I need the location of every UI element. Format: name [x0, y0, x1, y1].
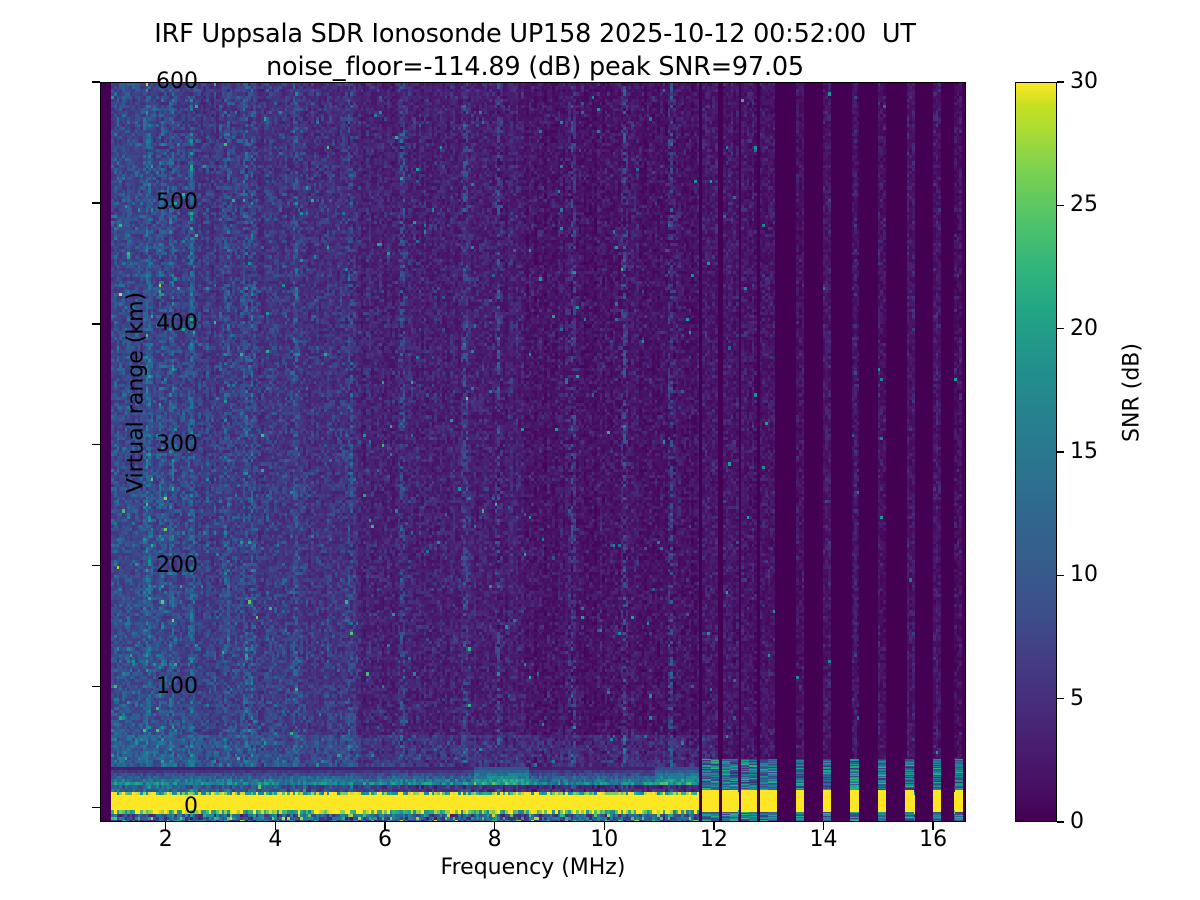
x-axis-tick-label: 16 [893, 829, 973, 851]
x-axis-tick-mark [384, 822, 385, 830]
colorbar-tick-label: 30 [1070, 71, 1098, 93]
x-axis-tick-label: 8 [455, 829, 535, 851]
title-line-1: IRF Uppsala SDR Ionosonde UP158 2025-10-… [0, 18, 1070, 51]
x-axis-tick-mark [494, 822, 495, 830]
x-axis-tick-label: 2 [126, 829, 206, 851]
x-axis-label: Frequency (MHz) [100, 855, 966, 880]
colorbar-tick-label: 0 [1070, 811, 1084, 833]
x-axis-tick-label: 10 [564, 829, 644, 851]
colorbar-tick-mark [1057, 451, 1064, 452]
x-axis-tick-label: 6 [345, 829, 425, 851]
colorbar-tick-label: 5 [1070, 688, 1084, 710]
colorbar-tick-mark [1057, 328, 1064, 329]
colorbar-tick-label: 25 [1070, 194, 1098, 216]
y-axis-tick-mark [92, 323, 100, 324]
ionogram-heatmap-canvas [101, 83, 966, 822]
y-axis-tick-mark [92, 565, 100, 566]
x-axis-tick-mark [165, 822, 166, 830]
colorbar-tick-mark [1057, 575, 1064, 576]
y-axis-tick-mark [92, 444, 100, 445]
colorbar-tick-label: 10 [1070, 564, 1098, 586]
y-axis-tick-mark [92, 807, 100, 808]
x-axis-tick-mark [932, 822, 933, 830]
x-axis-tick-mark [823, 822, 824, 830]
x-axis-tick-label: 12 [674, 829, 754, 851]
y-axis-tick-mark [92, 686, 100, 687]
snr-colorbar [1015, 82, 1057, 822]
colorbar-tick-mark [1057, 81, 1064, 82]
ionogram-figure: IRF Uppsala SDR Ionosonde UP158 2025-10-… [0, 0, 1200, 900]
x-axis-tick-mark [275, 822, 276, 830]
y-axis-label: Virtual range (km) [124, 243, 149, 543]
x-axis-tick-mark [713, 822, 714, 830]
y-axis-tick-mark [92, 81, 100, 82]
x-axis-tick-label: 4 [235, 829, 315, 851]
colorbar-tick-mark [1057, 698, 1064, 699]
colorbar-tick-label: 20 [1070, 318, 1098, 340]
x-axis-tick-mark [604, 822, 605, 830]
colorbar-tick-mark [1057, 205, 1064, 206]
y-axis-tick-mark [92, 202, 100, 203]
x-axis-tick-label: 14 [783, 829, 863, 851]
ionogram-plot-area [100, 82, 966, 822]
colorbar-label: SNR (dB) [1120, 243, 1145, 543]
colorbar-tick-label: 15 [1070, 441, 1098, 463]
colorbar-tick-mark [1057, 821, 1064, 822]
